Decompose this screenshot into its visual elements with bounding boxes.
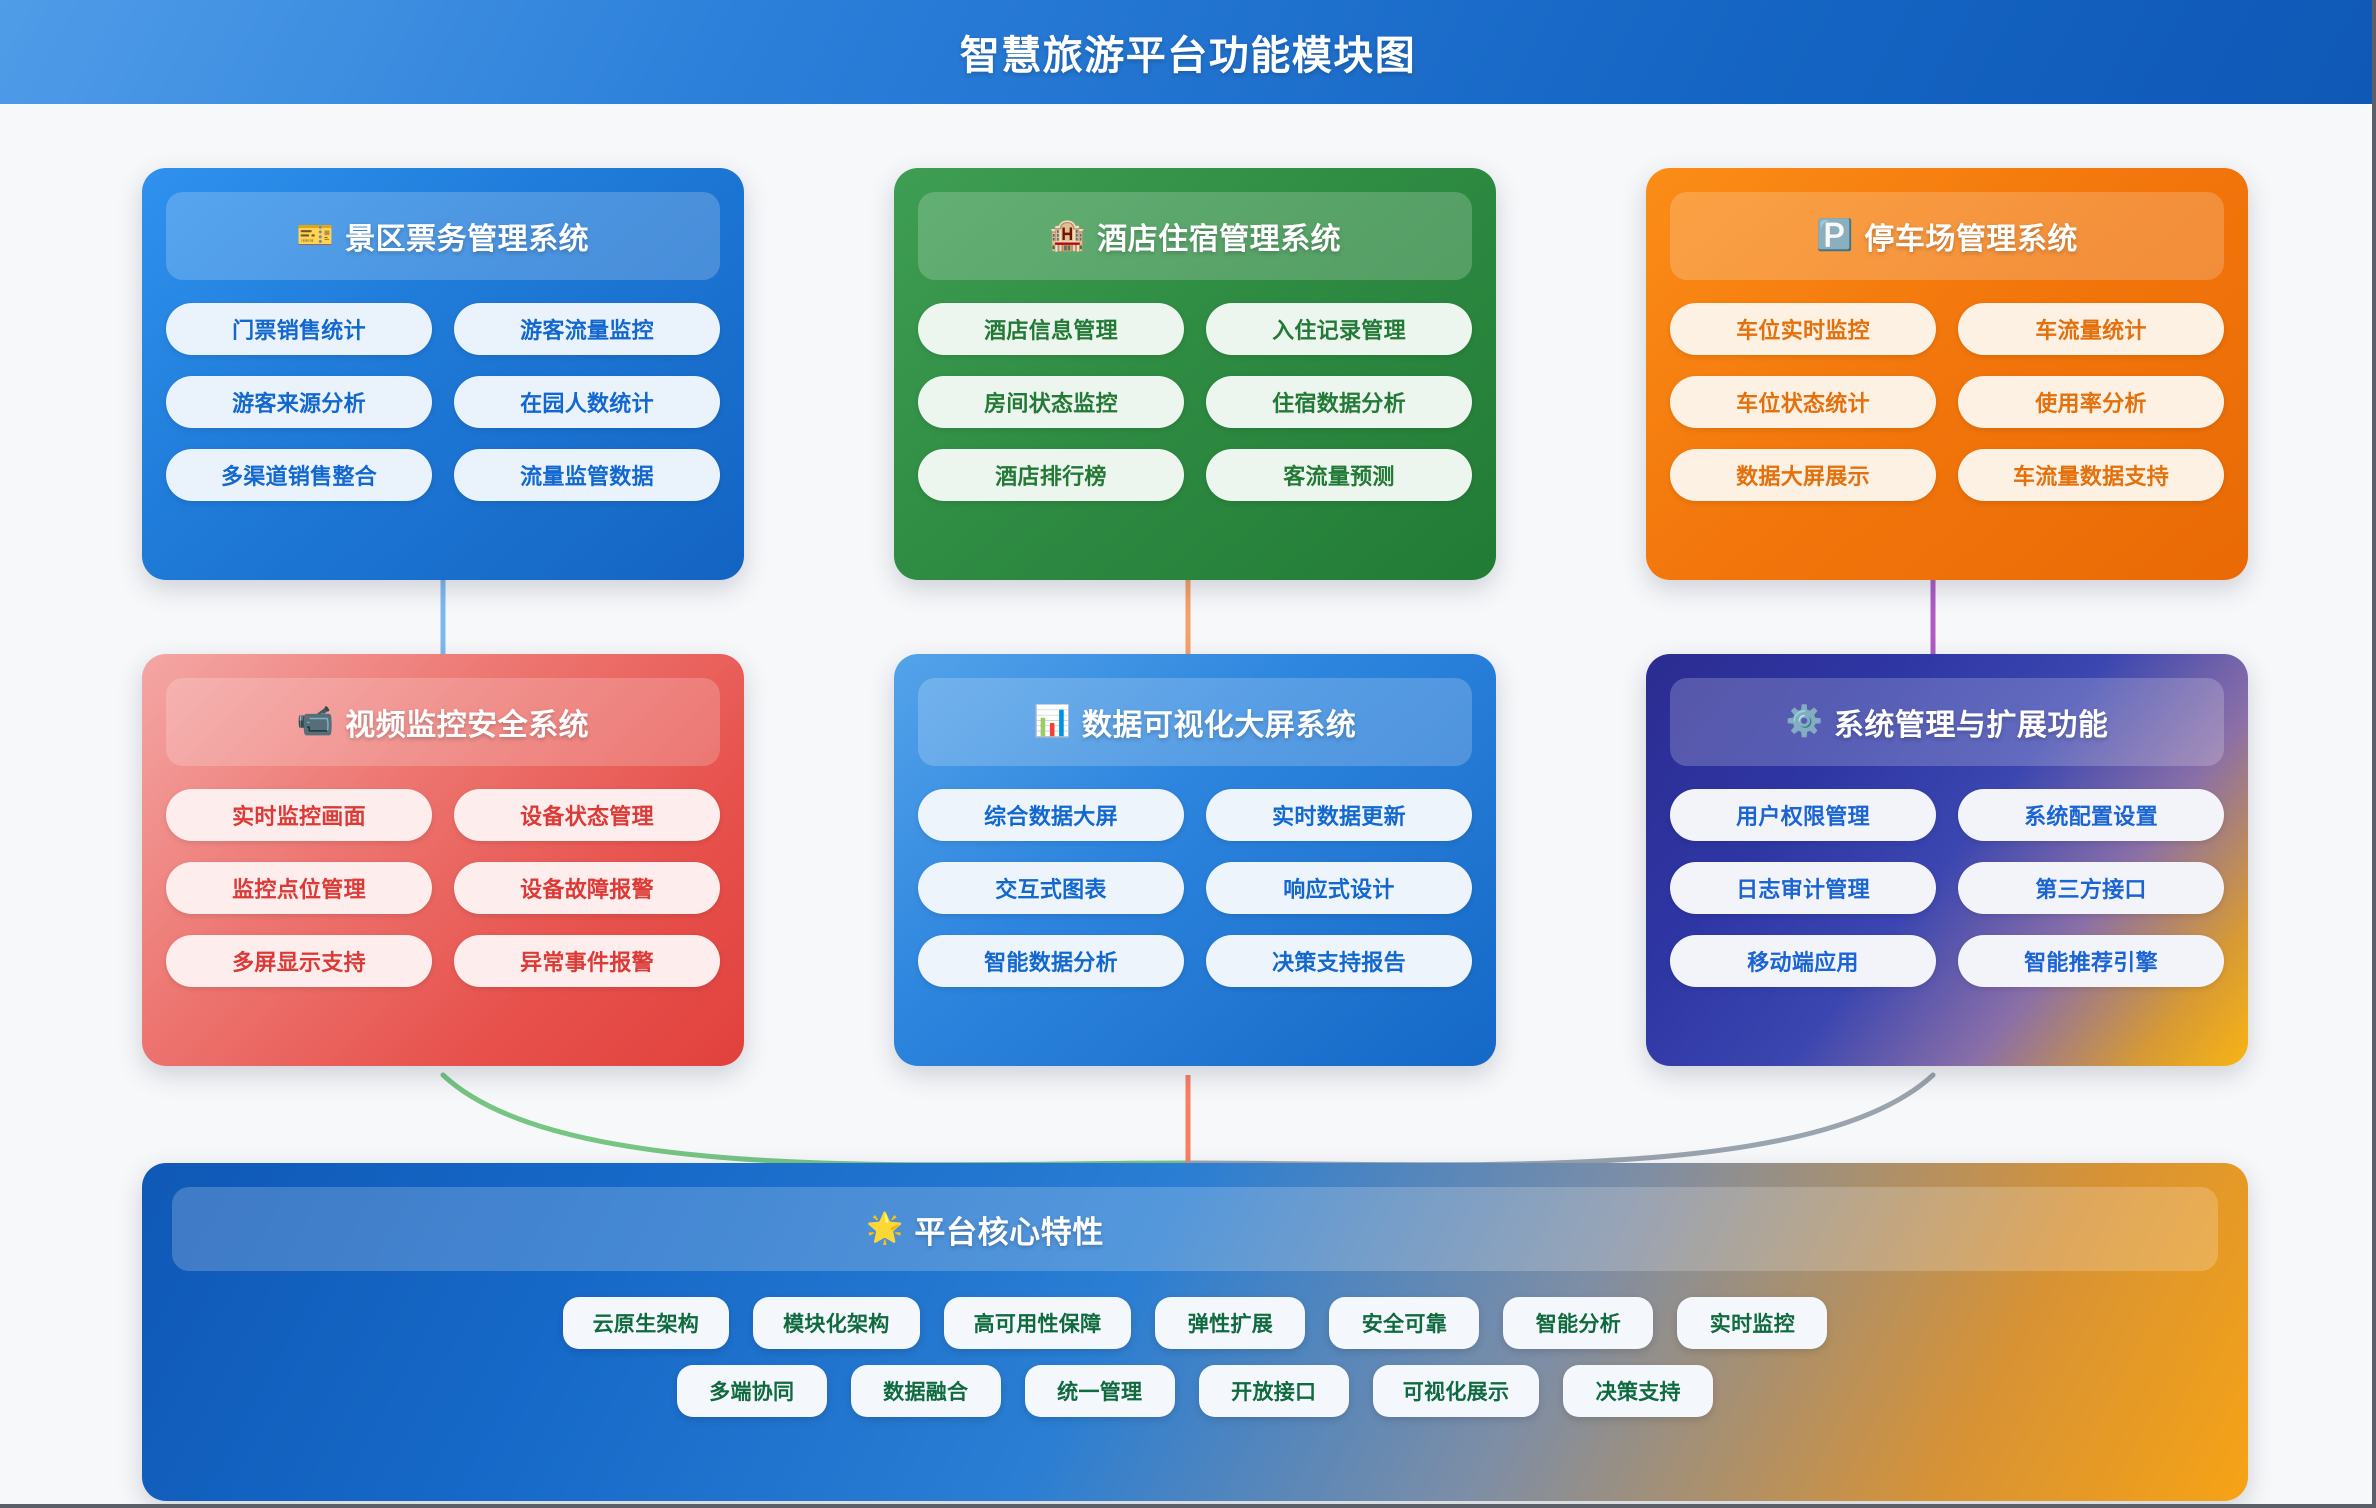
module-item[interactable]: 在园人数统计 xyxy=(454,376,720,428)
module-item[interactable]: 监控点位管理 xyxy=(166,862,432,914)
module-item[interactable]: 流量监管数据 xyxy=(454,449,720,501)
module-item[interactable]: 游客流量监控 xyxy=(454,303,720,355)
module-item[interactable]: 第三方接口 xyxy=(1958,862,2224,914)
feature-tag[interactable]: 安全可靠 xyxy=(1329,1297,1479,1349)
module-item[interactable]: 住宿数据分析 xyxy=(1206,376,1472,428)
gear-icon: ⚙️ xyxy=(1786,707,1823,737)
module-item[interactable]: 房间状态监控 xyxy=(918,376,1184,428)
feature-tag[interactable]: 多端协同 xyxy=(677,1365,827,1417)
module-item[interactable]: 数据大屏展示 xyxy=(1670,449,1936,501)
module-item[interactable]: 车位实时监控 xyxy=(1670,303,1936,355)
module-card-title: 酒店住宿管理系统 xyxy=(1097,214,1341,258)
module-item-list: 实时监控画面 设备状态管理 监控点位管理 设备故障报警 多屏显示支持 异常事件报… xyxy=(166,789,720,987)
page-title: 智慧旅游平台功能模块图 xyxy=(960,23,1417,81)
module-item[interactable]: 多屏显示支持 xyxy=(166,935,432,987)
module-item[interactable]: 车位状态统计 xyxy=(1670,376,1936,428)
feature-tag-row-1: 云原生架构 模块化架构 高可用性保障 弹性扩展 安全可靠 智能分析 实时监控 xyxy=(172,1297,2218,1349)
horizontal-scrollbar[interactable] xyxy=(0,1504,2376,1508)
module-item[interactable]: 酒店排行榜 xyxy=(918,449,1184,501)
module-card-header: 📊 数据可视化大屏系统 xyxy=(918,678,1472,766)
module-item-list: 综合数据大屏 实时数据更新 交互式图表 响应式设计 智能数据分析 决策支持报告 xyxy=(918,789,1472,987)
module-item[interactable]: 入住记录管理 xyxy=(1206,303,1472,355)
module-item[interactable]: 客流量预测 xyxy=(1206,449,1472,501)
module-item[interactable]: 门票销售统计 xyxy=(166,303,432,355)
module-card-header: 🎫 景区票务管理系统 xyxy=(166,192,720,280)
module-item[interactable]: 系统配置设置 xyxy=(1958,789,2224,841)
feature-tag[interactable]: 弹性扩展 xyxy=(1155,1297,1305,1349)
module-item[interactable]: 实时数据更新 xyxy=(1206,789,1472,841)
ticket-icon: 🎫 xyxy=(297,221,334,251)
module-item[interactable]: 移动端应用 xyxy=(1670,935,1936,987)
module-card-title: 视频监控安全系统 xyxy=(345,700,589,744)
platform-title: 平台核心特性 xyxy=(914,1207,1104,1252)
module-item[interactable]: 使用率分析 xyxy=(1958,376,2224,428)
module-card-title: 景区票务管理系统 xyxy=(345,214,589,258)
module-card-system[interactable]: ⚙️ 系统管理与扩展功能 用户权限管理 系统配置设置 日志审计管理 第三方接口 … xyxy=(1646,654,2248,1066)
feature-tag[interactable]: 智能分析 xyxy=(1503,1297,1653,1349)
module-item-list: 用户权限管理 系统配置设置 日志审计管理 第三方接口 移动端应用 智能推荐引擎 xyxy=(1670,789,2224,987)
feature-tag[interactable]: 模块化架构 xyxy=(753,1297,920,1349)
feature-tag[interactable]: 高可用性保障 xyxy=(944,1297,1132,1349)
module-card-dashboard[interactable]: 📊 数据可视化大屏系统 综合数据大屏 实时数据更新 交互式图表 响应式设计 智能… xyxy=(894,654,1496,1066)
feature-tag[interactable]: 决策支持 xyxy=(1563,1365,1713,1417)
module-item[interactable]: 设备故障报警 xyxy=(454,862,720,914)
platform-features-panel: 🌟 平台核心特性 云原生架构 模块化架构 高可用性保障 弹性扩展 安全可靠 智能… xyxy=(142,1163,2248,1501)
feature-tag-row-2: 多端协同 数据融合 统一管理 开放接口 可视化展示 决策支持 xyxy=(172,1365,2218,1417)
module-item[interactable]: 智能数据分析 xyxy=(918,935,1184,987)
module-item[interactable]: 决策支持报告 xyxy=(1206,935,1472,987)
parking-icon: 🅿️ xyxy=(1816,221,1853,251)
module-card-header: 📹 视频监控安全系统 xyxy=(166,678,720,766)
module-grid: 🎫 景区票务管理系统 门票销售统计 游客流量监控 游客来源分析 在园人数统计 多… xyxy=(142,168,2248,1066)
module-card-header: ⚙️ 系统管理与扩展功能 xyxy=(1670,678,2224,766)
feature-tag-rows: 云原生架构 模块化架构 高可用性保障 弹性扩展 安全可靠 智能分析 实时监控 多… xyxy=(172,1297,2218,1417)
page-header: 智慧旅游平台功能模块图 xyxy=(0,0,2376,104)
star-icon: 🌟 xyxy=(866,1214,903,1244)
module-item[interactable]: 设备状态管理 xyxy=(454,789,720,841)
feature-tag[interactable]: 数据融合 xyxy=(851,1365,1001,1417)
module-item[interactable]: 车流量数据支持 xyxy=(1958,449,2224,501)
module-card-title: 数据可视化大屏系统 xyxy=(1082,700,1357,744)
module-card-title: 停车场管理系统 xyxy=(1864,214,2078,258)
module-card-header: 🅿️ 停车场管理系统 xyxy=(1670,192,2224,280)
module-item[interactable]: 实时监控画面 xyxy=(166,789,432,841)
feature-tag[interactable]: 实时监控 xyxy=(1677,1297,1827,1349)
module-card-video[interactable]: 📹 视频监控安全系统 实时监控画面 设备状态管理 监控点位管理 设备故障报警 多… xyxy=(142,654,744,1066)
video-camera-icon: 📹 xyxy=(297,707,334,737)
feature-tag[interactable]: 统一管理 xyxy=(1025,1365,1175,1417)
platform-header: 🌟 平台核心特性 xyxy=(172,1187,2218,1271)
module-item[interactable]: 智能推荐引擎 xyxy=(1958,935,2224,987)
module-item[interactable]: 异常事件报警 xyxy=(454,935,720,987)
feature-tag[interactable]: 云原生架构 xyxy=(563,1297,730,1349)
module-item[interactable]: 综合数据大屏 xyxy=(918,789,1184,841)
module-card-ticket[interactable]: 🎫 景区票务管理系统 门票销售统计 游客流量监控 游客来源分析 在园人数统计 多… xyxy=(142,168,744,580)
connector-system-platform xyxy=(1190,1075,1933,1165)
module-item-list: 酒店信息管理 入住记录管理 房间状态监控 住宿数据分析 酒店排行榜 客流量预测 xyxy=(918,303,1472,501)
vertical-scrollbar[interactable] xyxy=(2372,0,2376,1508)
hotel-icon: 🏨 xyxy=(1049,221,1086,251)
module-card-parking[interactable]: 🅿️ 停车场管理系统 车位实时监控 车流量统计 车位状态统计 使用率分析 数据大… xyxy=(1646,168,2248,580)
bar-chart-icon: 📊 xyxy=(1034,707,1071,737)
module-item[interactable]: 交互式图表 xyxy=(918,862,1184,914)
module-item[interactable]: 酒店信息管理 xyxy=(918,303,1184,355)
module-item[interactable]: 响应式设计 xyxy=(1206,862,1472,914)
module-card-title: 系统管理与扩展功能 xyxy=(1834,700,2109,744)
connector-video-platform xyxy=(443,1075,1186,1165)
module-item-list: 车位实时监控 车流量统计 车位状态统计 使用率分析 数据大屏展示 车流量数据支持 xyxy=(1670,303,2224,501)
module-card-hotel[interactable]: 🏨 酒店住宿管理系统 酒店信息管理 入住记录管理 房间状态监控 住宿数据分析 酒… xyxy=(894,168,1496,580)
module-item[interactable]: 车流量统计 xyxy=(1958,303,2224,355)
module-item[interactable]: 用户权限管理 xyxy=(1670,789,1936,841)
module-card-header: 🏨 酒店住宿管理系统 xyxy=(918,192,1472,280)
page-root: 智慧旅游平台功能模块图 🎫 景区票务管理系统 门票销售统计 游客流量监控 游客来… xyxy=(0,0,2376,1508)
module-item[interactable]: 多渠道销售整合 xyxy=(166,449,432,501)
module-item[interactable]: 日志审计管理 xyxy=(1670,862,1936,914)
feature-tag[interactable]: 开放接口 xyxy=(1199,1365,1349,1417)
feature-tag[interactable]: 可视化展示 xyxy=(1373,1365,1540,1417)
module-item[interactable]: 游客来源分析 xyxy=(166,376,432,428)
module-item-list: 门票销售统计 游客流量监控 游客来源分析 在园人数统计 多渠道销售整合 流量监管… xyxy=(166,303,720,501)
